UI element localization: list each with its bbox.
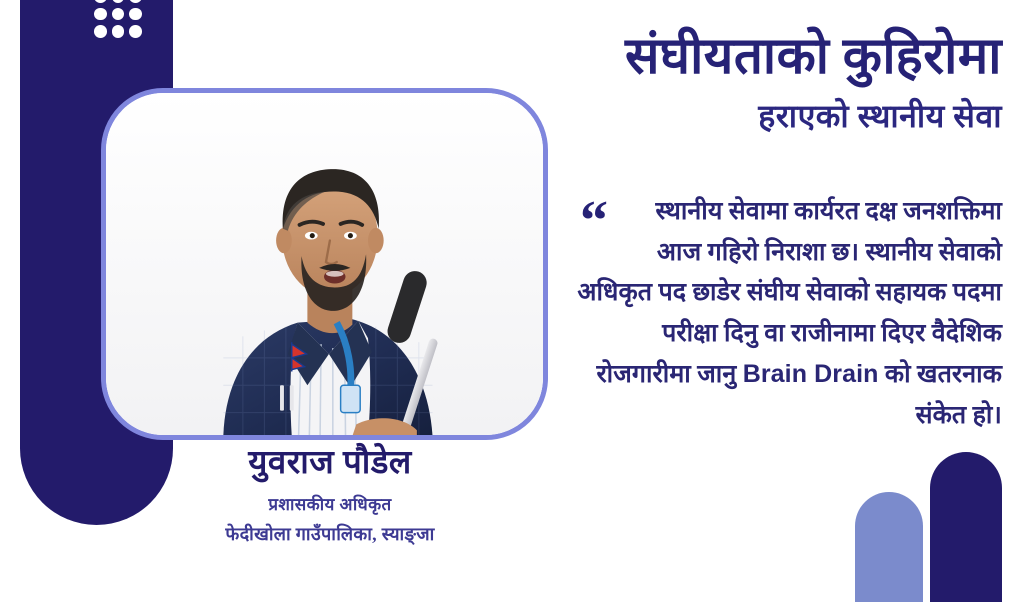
- headline-main: संघीयताको कुहिरोमा: [482, 26, 1002, 88]
- speaker-photo-frame: [101, 88, 548, 440]
- speaker-organization: फेदीखोला गाउँपालिका, स्याङ्जा: [120, 521, 540, 548]
- speaker-info: युवराज पौडेल प्रशासकीय अधिकृत फेदीखोला ग…: [120, 443, 540, 548]
- speaker-portrait-illustration: [106, 93, 543, 435]
- headline-block: संघीयताको कुहिरोमा हराएको स्थानीय सेवा: [482, 26, 1002, 138]
- quote-card: युवराज पौडेल प्रशासकीय अधिकृत फेदीखोला ग…: [0, 0, 1024, 602]
- dot-grid-logo-icon: [94, 0, 142, 38]
- quote-english-term: Brain Drain: [743, 360, 879, 388]
- quote-block: “ स्थानीय सेवामा कार्यरत दक्ष जनशक्तिमा …: [572, 192, 1002, 436]
- decoration-light-blue-pill: [855, 492, 923, 602]
- quote-part-after: को खतरनाक संकेत हो।: [879, 361, 1002, 429]
- speaker-role: प्रशासकीय अधिकृत: [120, 492, 540, 518]
- quote-text: स्थानीय सेवामा कार्यरत दक्ष जनशक्तिमा आज…: [572, 192, 1002, 436]
- speaker-photo: [106, 93, 543, 435]
- decoration-navy-pill: [930, 452, 1002, 602]
- headline-sub: हराएको स्थानीय सेवा: [482, 96, 1002, 138]
- speaker-name: युवराज पौडेल: [120, 443, 540, 484]
- quote-mark-icon: “: [580, 206, 608, 237]
